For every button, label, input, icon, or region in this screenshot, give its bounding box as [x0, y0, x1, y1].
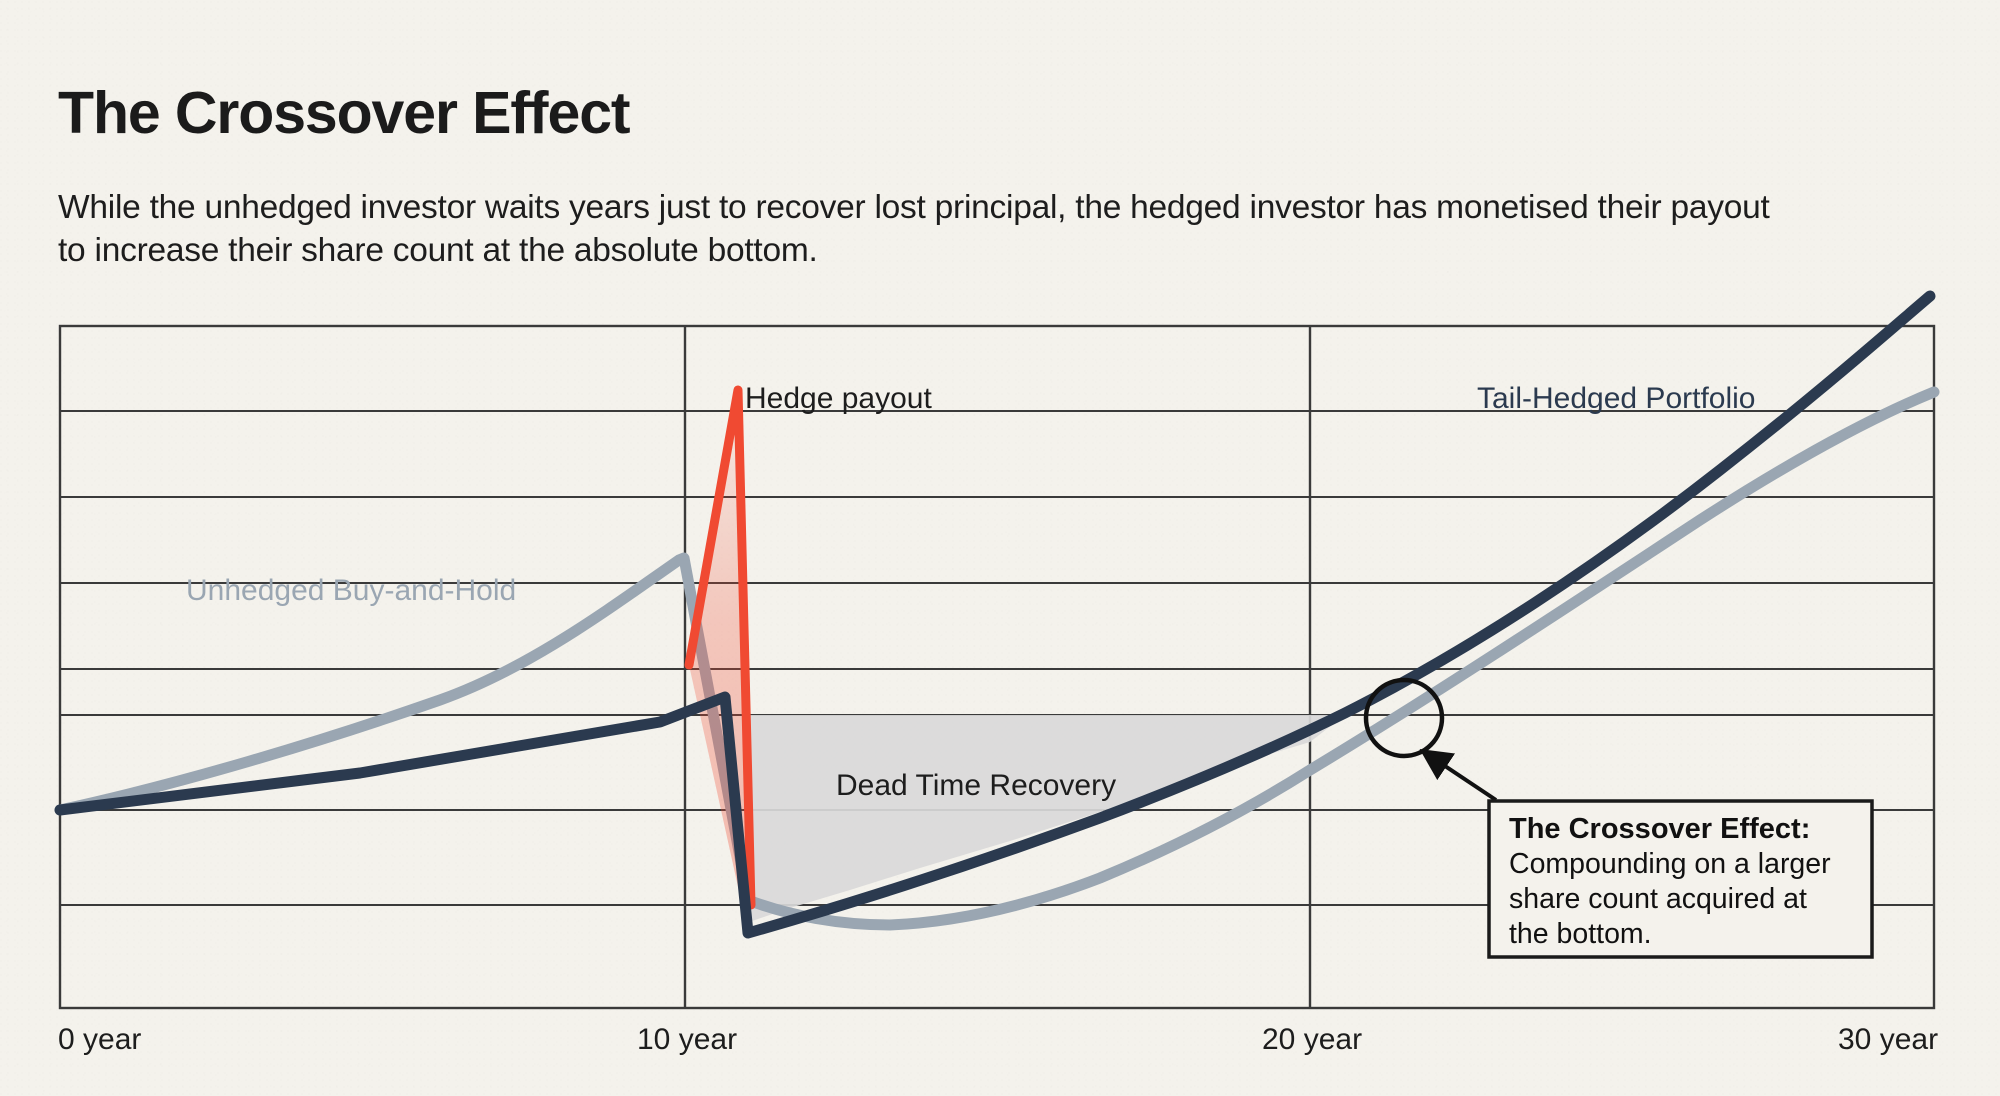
callout-arrow — [1424, 752, 1496, 800]
chart-page: The Crossover Effect While the unhedged … — [0, 0, 2000, 1096]
label-dead-time-recovery: Dead Time Recovery — [836, 769, 1116, 802]
callout-body-line-1: Compounding on a larger — [1509, 848, 1831, 880]
callout-body-line-2: share count acquired at — [1509, 883, 1807, 915]
crossover-callout-box: The Crossover Effect: Compounding on a l… — [1489, 801, 1872, 957]
label-unhedged-buy-and-hold: Unhedged Buy-and-Hold — [186, 574, 516, 607]
xtick-10year: 10 year — [637, 1023, 737, 1057]
label-tail-hedged-portfolio: Tail-Hedged Portfolio — [1477, 382, 1755, 415]
crossover-effect-chart: The Crossover Effect: Compounding on a l… — [0, 0, 2000, 1096]
x-axis-tick-labels: 0 year 10 year 20 year 30 year — [0, 1023, 2000, 1069]
xtick-30year: 30 year — [1838, 1023, 1938, 1057]
xtick-20year: 20 year — [1262, 1023, 1362, 1057]
xtick-0year: 0 year — [58, 1023, 141, 1057]
chart-container: The Crossover Effect: Compounding on a l… — [0, 0, 2000, 1096]
callout-title: The Crossover Effect: — [1509, 813, 1810, 845]
callout-body-line-3: the bottom. — [1509, 918, 1652, 950]
dead-time-recovery-region — [748, 715, 1345, 921]
label-hedge-payout: Hedge payout — [745, 382, 932, 415]
